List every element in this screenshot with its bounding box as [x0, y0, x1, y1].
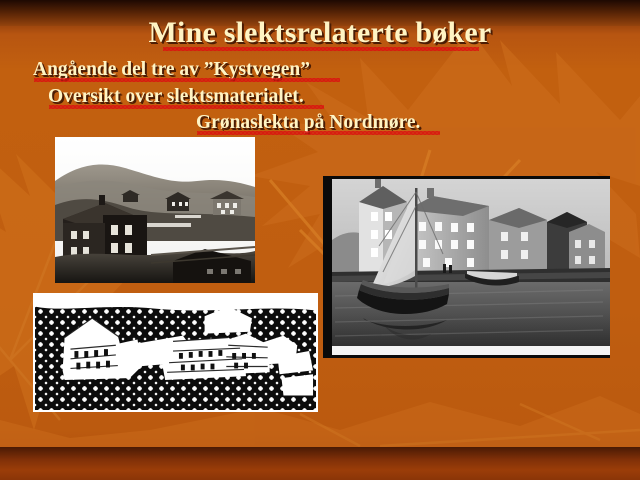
harbour-painting-artwork — [323, 176, 610, 358]
historic-village-photograph — [55, 137, 255, 283]
page-title: Mine slektsrelaterte bøker — [0, 16, 640, 50]
presentation-slide: Mine slektsrelaterte bøker Angående del … — [0, 0, 640, 480]
spellcheck-underline-line-1 — [34, 78, 340, 82]
spellcheck-underline-line-2 — [49, 105, 324, 109]
slide-bottom-band — [0, 447, 640, 480]
halftone-engraving-print — [33, 293, 318, 412]
spellcheck-underline-line-3 — [197, 131, 440, 135]
harbour-painting — [323, 176, 610, 358]
halftone-buildings-artwork — [35, 295, 316, 410]
village-photo-artwork — [55, 137, 255, 283]
spellcheck-underline-title — [163, 47, 479, 51]
